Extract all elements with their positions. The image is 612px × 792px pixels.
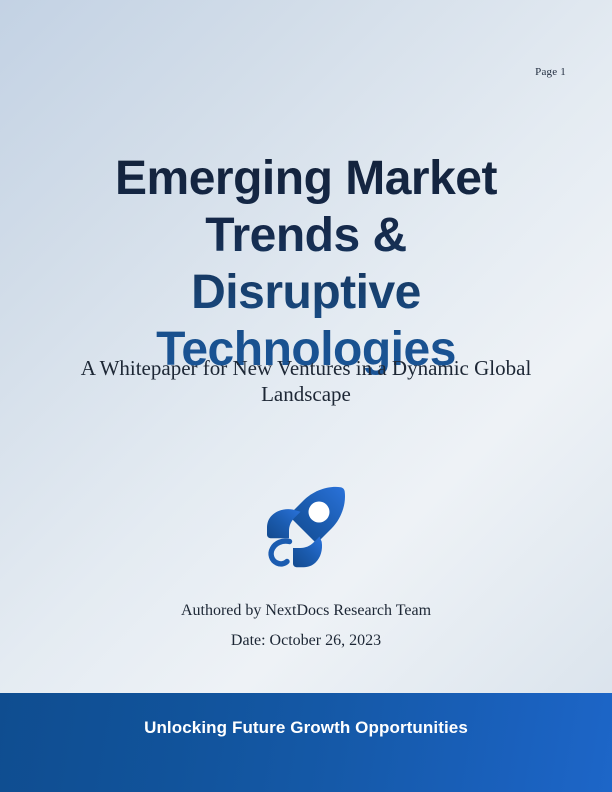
page-title: Emerging Market Trends & Disruptive Tech… (106, 150, 506, 378)
title-block: Emerging Market Trends & Disruptive Tech… (0, 150, 612, 378)
page-subtitle: A Whitepaper for New Ventures in a Dynam… (66, 355, 546, 407)
footer-banner-text: Unlocking Future Growth Opportunities (144, 718, 468, 738)
footer-banner: Unlocking Future Growth Opportunities (0, 693, 612, 792)
emblem-container (0, 481, 612, 569)
rocket-icon (262, 481, 350, 569)
credits-block: Authored by NextDocs Research Team Date:… (0, 596, 612, 656)
author-line: Authored by NextDocs Research Team (0, 596, 612, 626)
date-line: Date: October 26, 2023 (0, 626, 612, 656)
document-page: Page 1 Emerging Market Trends & Disrupti… (0, 0, 612, 792)
page-number: Page 1 (535, 66, 566, 78)
